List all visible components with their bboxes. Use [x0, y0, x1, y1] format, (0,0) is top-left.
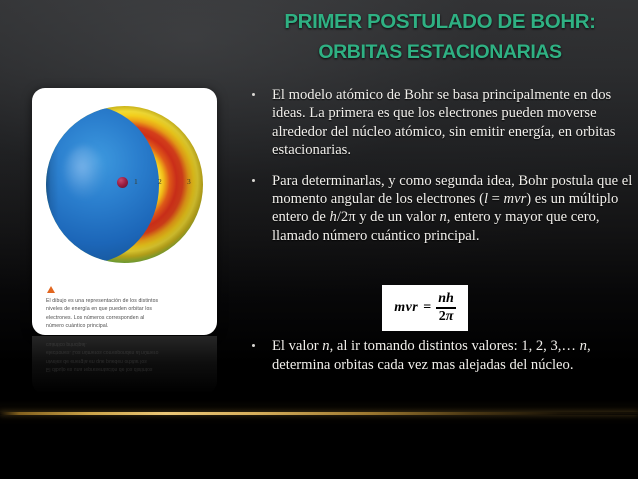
bottom-background — [0, 415, 638, 479]
figure-card: 1 2 3 El dibujo es una representación de… — [32, 88, 217, 335]
bullet-item-3: El valor n, al ir tomando distintos valo… — [246, 337, 638, 374]
formula-expression: mvr = nh 2π — [394, 292, 456, 324]
slide-title: PRIMER POSTULADO DE BOHR: ORBITAS ESTACI… — [250, 6, 630, 68]
formula-denominator: 2π — [437, 309, 456, 324]
bullet-dot-icon — [252, 179, 255, 182]
bullet-3-text-b: , al ir tomando distintos valores: 1, 2,… — [330, 338, 580, 354]
bullet-2-math-mvr: mvr — [504, 191, 527, 207]
title-line-1: PRIMER POSTULADO DE BOHR: — [250, 6, 630, 37]
bullet-2-text-c: /2π y de un valor — [337, 209, 440, 225]
bullet-2-math-h: h — [330, 209, 337, 225]
bullet-dot-icon — [252, 93, 255, 96]
energy-level-label-2: 2 — [158, 177, 162, 186]
formula-left-side: mvr — [394, 300, 418, 316]
formula-denominator-number: 2 — [439, 309, 446, 324]
nucleus-icon — [117, 177, 128, 188]
formula-box: mvr = nh 2π — [382, 285, 468, 331]
body-content: El modelo atómico de Bohr se basa princi… — [246, 86, 638, 386]
bullet-item-1: El modelo atómico de Bohr se basa princi… — [246, 86, 638, 160]
formula-numerator: nh — [436, 292, 456, 307]
slide-root: PRIMER POSTULADO DE BOHR: ORBITAS ESTACI… — [0, 0, 638, 479]
bullet-item-2: Para determinarlas, y como segunda idea,… — [246, 172, 638, 246]
warning-triangle-icon — [47, 286, 55, 293]
bullet-2-math-n: n — [439, 209, 446, 225]
energy-level-label-3: 3 — [187, 177, 191, 186]
bullet-2-eq: = — [488, 191, 504, 207]
bullet-3-text-a: El valor — [272, 338, 322, 354]
bullet-3-math-n-2: n — [580, 338, 587, 354]
accent-divider-line — [0, 412, 638, 415]
bullet-dot-icon — [252, 344, 255, 347]
title-line-2: ORBITAS ESTACIONARIAS — [250, 37, 630, 68]
bullet-1-text: El modelo atómico de Bohr se basa princi… — [272, 87, 615, 158]
bullet-3-math-n-1: n — [322, 338, 329, 354]
figure-reflection: El dibujo es una representación de los d… — [32, 336, 217, 394]
energy-level-label-1: 1 — [134, 177, 138, 186]
figure-reflection-text: El dibujo es una representación de los d… — [46, 340, 161, 373]
formula-denominator-symbol: π — [446, 309, 454, 324]
formula-equals-sign: = — [423, 300, 431, 316]
atom-diagram: 1 2 3 — [40, 98, 209, 281]
figure-caption: El dibujo es una representación de los d… — [46, 297, 161, 330]
formula-fraction: nh 2π — [436, 292, 456, 324]
